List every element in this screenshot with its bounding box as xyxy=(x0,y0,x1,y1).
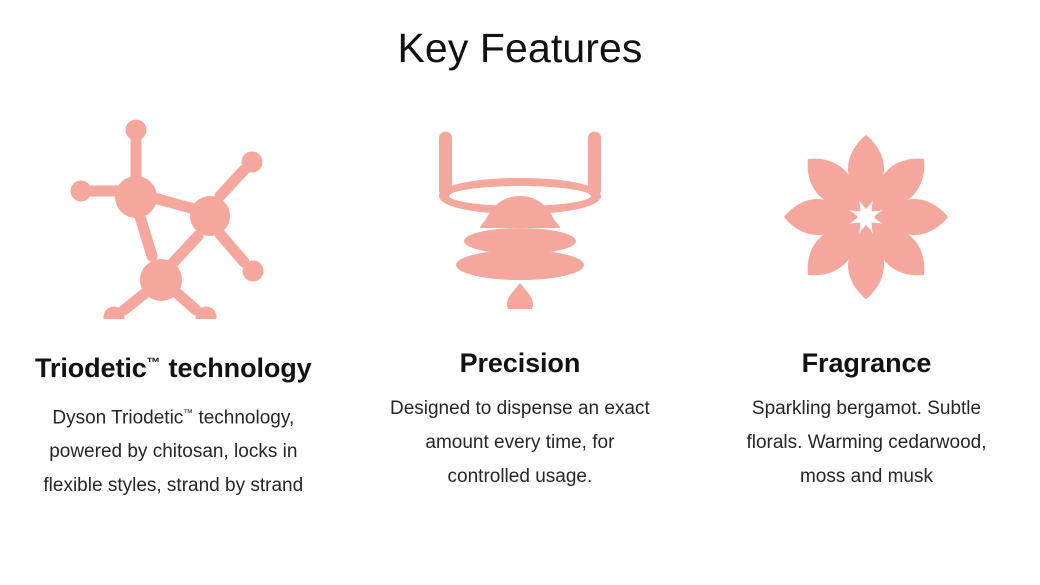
page-title: Key Features xyxy=(0,22,1040,74)
pump-dispenser-icon xyxy=(410,104,630,329)
feature-column-fragrance: Fragrance Sparkling bergamot. Subtle flo… xyxy=(693,104,1040,494)
features-row: Triodetic™ technology Dyson Triodetic™ t… xyxy=(0,104,1040,503)
feature-column-precision: Precision Designed to dispense an exact … xyxy=(347,104,694,494)
feature-title-triodetic: Triodetic™ technology xyxy=(35,346,312,385)
feature-title-triodetic-main: Triodetic xyxy=(35,353,147,383)
feature-desc-precision: Designed to dispense an exact amount eve… xyxy=(387,392,653,494)
flower-petal-icon xyxy=(756,104,976,329)
feature-desc-fragrance: Sparkling bergamot. Subtle florals. Warm… xyxy=(730,392,1002,494)
feature-title-fragrance: Fragrance xyxy=(802,346,932,380)
feature-desc-triodetic: Dyson Triodetic™ technology, powered by … xyxy=(27,397,319,503)
feature-title-triodetic-tail: technology xyxy=(161,353,311,383)
key-features-page: Key Features xyxy=(0,0,1040,585)
feature-title-precision: Precision xyxy=(460,346,581,380)
feature-column-triodetic: Triodetic™ technology Dyson Triodetic™ t… xyxy=(0,104,347,503)
feature-desc-triodetic-part1: Dyson Triodetic xyxy=(52,407,183,428)
trademark-symbol: ™ xyxy=(147,355,161,370)
trademark-symbol: ™ xyxy=(183,408,193,419)
molecule-network-icon xyxy=(63,104,283,329)
